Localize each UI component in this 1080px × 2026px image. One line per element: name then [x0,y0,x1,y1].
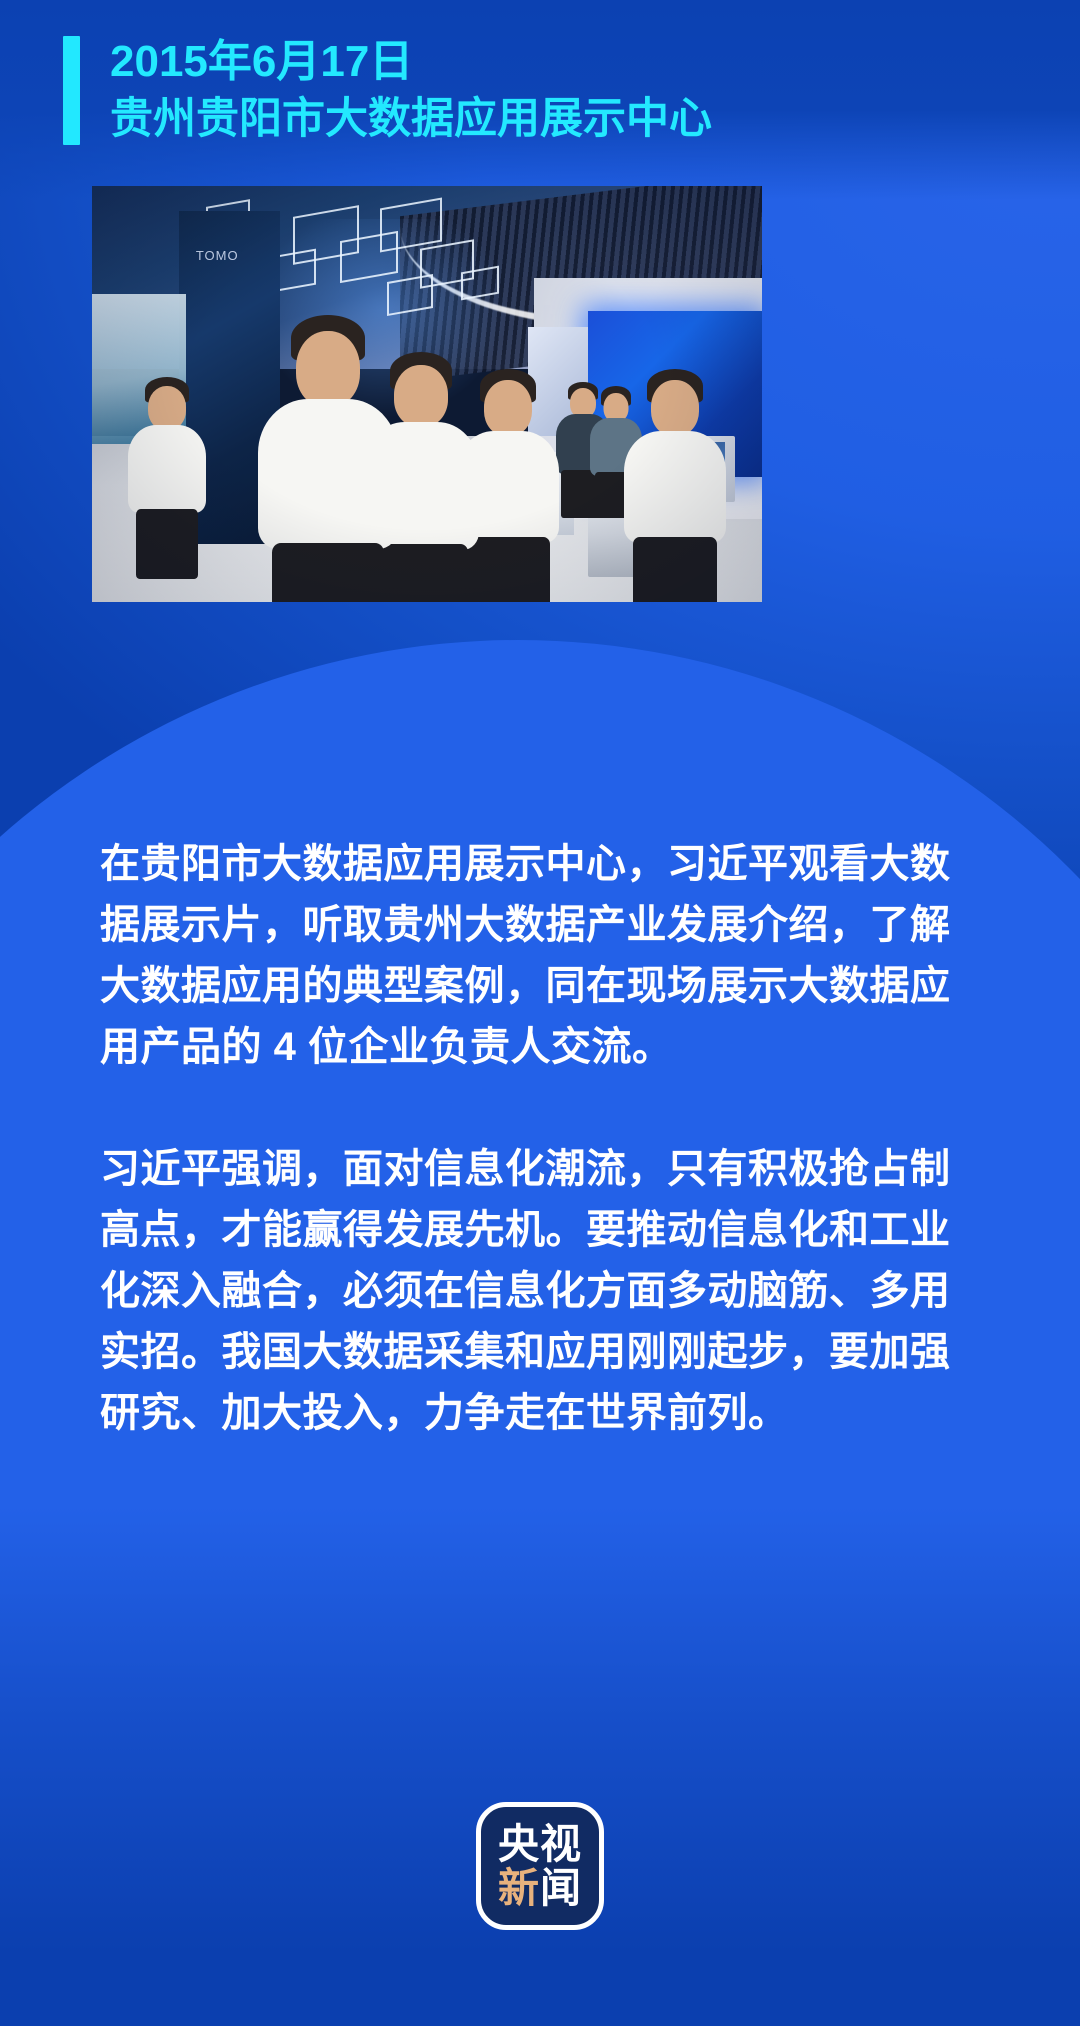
header-date: 2015年6月17日 [110,36,712,88]
logo-char-xin: 新 [498,1868,540,1909]
news-photo: TOMO [92,186,762,602]
logo-line-1: 央视 [498,1824,582,1865]
header-location: 贵州贵阳市大数据应用展示中心 [110,94,712,145]
article-body: 在贵阳市大数据应用展示中心，习近平观看大数据展示片，听取贵州大数据产业发展介绍，… [100,834,990,1444]
header: 2015年6月17日 贵州贵阳市大数据应用展示中心 [63,36,1003,145]
logo-char-wen: 闻 [540,1868,582,1909]
header-text-group: 2015年6月17日 贵州贵阳市大数据应用展示中心 [110,36,712,145]
paragraph-2: 习近平强调，面对信息化潮流，只有积极抢占制高点，才能赢得发展先机。要推动信息化和… [100,1139,990,1444]
photo-vignette [92,186,762,602]
logo-line-2: 新 闻 [498,1868,582,1909]
paragraph-1: 在贵阳市大数据应用展示中心，习近平观看大数据展示片，听取贵州大数据产业发展介绍，… [100,834,990,1078]
photo-scene: TOMO [92,186,762,602]
accent-bar-icon [63,36,80,145]
cctv-news-logo: 央视 新 闻 [476,1802,604,1930]
poster-page: 2015年6月17日 贵州贵阳市大数据应用展示中心 TOMO [0,0,1080,2026]
